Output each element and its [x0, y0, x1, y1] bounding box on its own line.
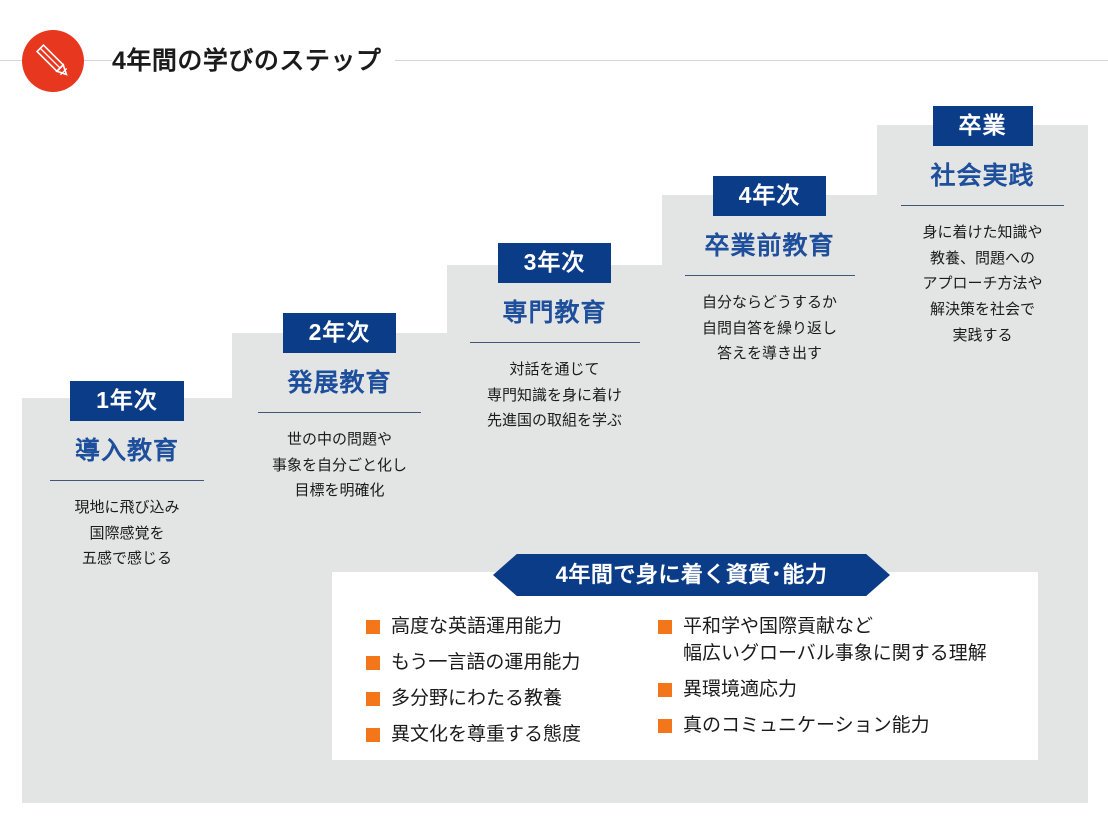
step-card-3: 3年次 専門教育 対話を通じて 専門知識を身に着け 先進国の取組を学ぶ: [447, 243, 662, 434]
step-desc-line: 答えを導き出す: [662, 341, 877, 367]
step-badge-4: 4年次: [713, 176, 827, 216]
competency-ribbon-title: 4年間で身に着く資質･能力: [493, 554, 890, 596]
infographic-page: 4年間の学びのステップ 1年次 導入教育 現地に飛び込み 国際感覚を 五感で感じ…: [0, 0, 1108, 816]
step-badge-5: 卒業: [933, 106, 1033, 146]
step-title-2: 発展教育: [232, 369, 447, 398]
step-card-1: 1年次 導入教育 現地に飛び込み 国際感覚を 五感で感じる: [22, 381, 232, 572]
square-bullet-icon: [658, 620, 672, 634]
step-desc-line: 専門知識を身に着け: [447, 383, 662, 409]
step-divider-4: [685, 275, 855, 276]
step-desc-line: アプローチ方法や: [877, 271, 1088, 297]
step-desc-line: 国際感覚を: [22, 521, 232, 547]
square-bullet-icon: [366, 692, 380, 706]
step-card-2: 2年次 発展教育 世の中の問題や 事象を自分ごと化し 目標を明確化: [232, 313, 447, 504]
step-desc-line: 教養、問題への: [877, 246, 1088, 272]
list-item: 多分野にわたる教養: [366, 686, 658, 713]
list-item-label: 多分野にわたる教養: [391, 686, 562, 713]
step-desc-line: 五感で感じる: [22, 546, 232, 572]
list-item: もう一言語の運用能力: [366, 650, 658, 677]
step-divider-3: [470, 342, 640, 343]
square-bullet-icon: [658, 719, 672, 733]
list-item-label: もう一言語の運用能力: [391, 650, 580, 677]
step-desc-line: 解決策を社会で: [877, 297, 1088, 323]
step-desc-line: 身に着けた知識や: [877, 220, 1088, 246]
step-badge-3: 3年次: [498, 243, 612, 283]
list-item: 真のコミュニケーション能力: [658, 713, 1038, 740]
square-bullet-icon: [366, 656, 380, 670]
square-bullet-icon: [366, 620, 380, 634]
list-item: 異文化を尊重する態度: [366, 722, 658, 749]
step-title-5: 社会実践: [877, 162, 1088, 191]
step-desc-line: 対話を通じて: [447, 357, 662, 383]
step-divider-2: [258, 412, 421, 413]
list-item-label: 異環境適応力: [683, 677, 797, 704]
list-item-label-cont: 幅広いグローバル事象に関する理解: [683, 641, 987, 668]
step-desc-line: 世の中の問題や: [232, 427, 447, 453]
square-bullet-icon: [366, 728, 380, 742]
step-desc-3: 対話を通じて 専門知識を身に着け 先進国の取組を学ぶ: [447, 357, 662, 434]
step-desc-2: 世の中の問題や 事象を自分ごと化し 目標を明確化: [232, 427, 447, 504]
step-desc-5: 身に着けた知識や 教養、問題への アプローチ方法や 解決策を社会で 実践する: [877, 220, 1088, 349]
step-card-4: 4年次 卒業前教育 自分ならどうするか 自問自答を繰り返し 答えを導き出す: [662, 176, 877, 367]
list-item: 高度な英語運用能力: [366, 614, 658, 641]
list-item-label: 平和学や国際貢献など: [683, 614, 987, 641]
list-item: 平和学や国際貢献など 幅広いグローバル事象に関する理解: [658, 614, 1038, 668]
step-desc-line: 実践する: [877, 323, 1088, 349]
step-desc-line: 先進国の取組を学ぶ: [447, 408, 662, 434]
list-item-label: 異文化を尊重する態度: [391, 722, 581, 749]
list-item: 異環境適応力: [658, 677, 1038, 704]
competency-column-left: 高度な英語運用能力 もう一言語の運用能力 多分野にわたる教養 異文化を尊重する態…: [332, 614, 658, 758]
competency-card: 高度な英語運用能力 もう一言語の運用能力 多分野にわたる教養 異文化を尊重する態…: [332, 572, 1038, 760]
step-title-3: 専門教育: [447, 299, 662, 328]
step-desc-line: 目標を明確化: [232, 478, 447, 504]
list-item-label: 真のコミュニケーション能力: [683, 713, 930, 740]
step-card-5: 卒業 社会実践 身に着けた知識や 教養、問題への アプローチ方法や 解決策を社会…: [877, 106, 1088, 349]
step-desc-1: 現地に飛び込み 国際感覚を 五感で感じる: [22, 495, 232, 572]
step-desc-line: 自問自答を繰り返し: [662, 316, 877, 342]
step-divider-5: [901, 205, 1064, 206]
step-desc-4: 自分ならどうするか 自問自答を繰り返し 答えを導き出す: [662, 290, 877, 367]
step-divider-1: [50, 480, 204, 481]
step-desc-line: 事象を自分ごと化し: [232, 453, 447, 479]
list-item-label: 高度な英語運用能力: [391, 614, 562, 641]
competency-column-right: 平和学や国際貢献など 幅広いグローバル事象に関する理解 異環境適応力 真のコミュ…: [658, 614, 1038, 758]
step-desc-line: 現地に飛び込み: [22, 495, 232, 521]
competency-columns: 高度な英語運用能力 もう一言語の運用能力 多分野にわたる教養 異文化を尊重する態…: [332, 614, 1038, 758]
step-title-1: 導入教育: [22, 437, 232, 466]
step-title-4: 卒業前教育: [662, 232, 877, 261]
step-badge-1: 1年次: [70, 381, 184, 421]
step-desc-line: 自分ならどうするか: [662, 290, 877, 316]
step-badge-2: 2年次: [283, 313, 397, 353]
square-bullet-icon: [658, 683, 672, 697]
